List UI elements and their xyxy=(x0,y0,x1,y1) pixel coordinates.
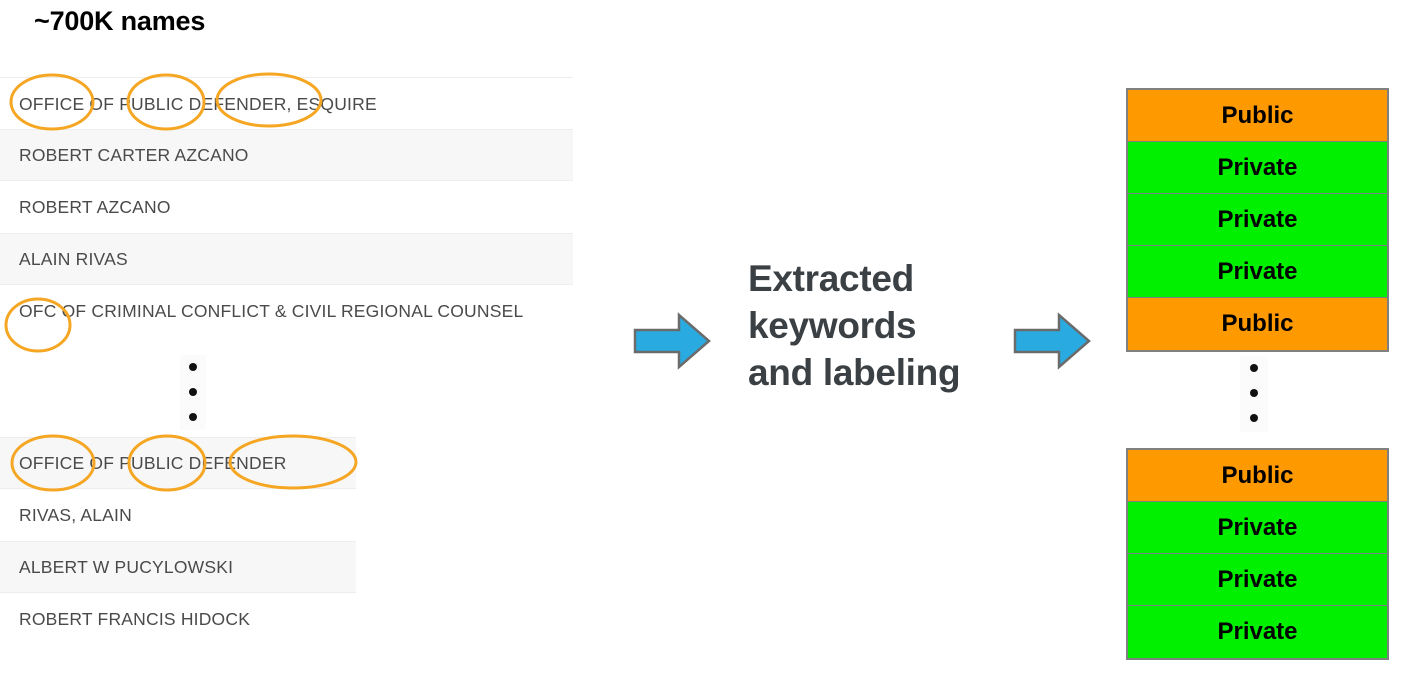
right-arrow-icon-1 xyxy=(633,312,711,370)
pipeline-label: Extracted keywords and labeling xyxy=(748,255,1008,396)
list-item: OFFICE OF PUBLIC DEFENDER, ESQUIRE xyxy=(0,77,573,129)
right-arrow-icon-2 xyxy=(1013,312,1091,370)
status-badge-private: Private xyxy=(1128,606,1387,658)
ellipsis-dot xyxy=(189,388,197,396)
name-list-top: OFFICE OF PUBLIC DEFENDER, ESQUIRE ROBER… xyxy=(0,77,573,337)
status-badge-private: Private xyxy=(1128,142,1387,194)
ellipsis-dot xyxy=(1250,414,1258,422)
pipeline-label-line-3: and labeling xyxy=(748,349,1008,396)
status-badge-private: Private xyxy=(1128,194,1387,246)
list-item: ROBERT FRANCIS HIDOCK xyxy=(0,593,356,645)
status-badge-private: Private xyxy=(1128,246,1387,298)
vertical-ellipsis-icon-left xyxy=(180,355,206,430)
ellipsis-dot xyxy=(189,363,197,371)
list-item: OFC OF CRIMINAL CONFLICT & CIVIL REGIONA… xyxy=(0,285,573,337)
pipeline-label-line-1: Extracted xyxy=(748,255,1008,302)
list-item: ALAIN RIVAS xyxy=(0,233,573,285)
name-list-bottom: OFFICE OF PUBLIC DEFENDER RIVAS, ALAIN A… xyxy=(0,437,356,645)
list-item: ROBERT AZCANO xyxy=(0,181,573,233)
status-badge-public: Public xyxy=(1128,450,1387,502)
list-item: RIVAS, ALAIN xyxy=(0,489,356,541)
status-badge-private: Private xyxy=(1128,554,1387,606)
ellipsis-dot xyxy=(189,413,197,421)
status-badge-public: Public xyxy=(1128,298,1387,350)
vertical-ellipsis-icon-right xyxy=(1240,356,1268,432)
list-item: OFFICE OF PUBLIC DEFENDER xyxy=(0,437,356,489)
list-item: ALBERT W PUCYLOWSKI xyxy=(0,541,356,593)
label-stack-top: Public Private Private Private Public xyxy=(1126,88,1389,352)
label-stack-bottom: Public Private Private Private xyxy=(1126,448,1389,660)
pipeline-label-line-2: keywords xyxy=(748,302,1008,349)
list-item: ROBERT CARTER AZCANO xyxy=(0,129,573,181)
ellipsis-dot xyxy=(1250,389,1258,397)
page-title: ~700K names xyxy=(34,6,205,37)
ellipsis-dot xyxy=(1250,364,1258,372)
status-badge-private: Private xyxy=(1128,502,1387,554)
status-badge-public: Public xyxy=(1128,90,1387,142)
